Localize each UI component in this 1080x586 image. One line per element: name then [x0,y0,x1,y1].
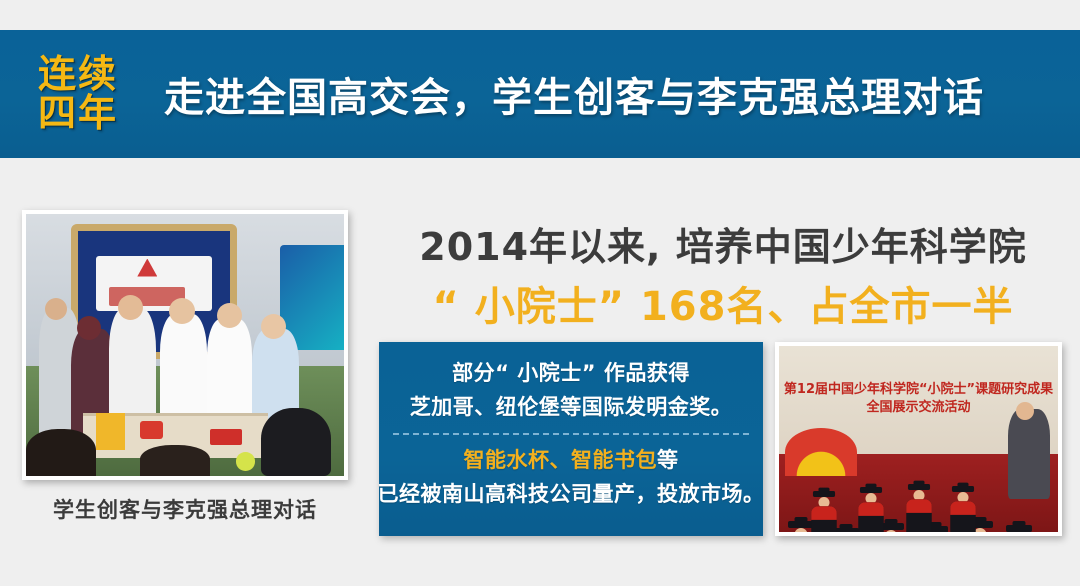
right-photo-image: 从小学习做人 · 从小学习立志 · 从小学习创造 第12届中国少年科学院“小院士… [779,346,1058,532]
photo-grad-cap [833,528,859,532]
info-box-line-3-highlight: 智能水杯、智能书包 [464,448,658,472]
info-box-line-1: 部分“ 小院士” 作品获得 [452,356,690,390]
info-box-line-3-suffix: 等 [657,448,679,472]
photo-exhibit-item [210,429,242,445]
info-box-line-2: 芝加哥、纽伦堡等国际发明金奖。 [410,390,733,424]
content-area: 学生创客与李克强总理对话 2014年以来, 培养中国少年科学院 “ 小院士” 1… [0,158,1080,586]
photo-grad-sash [906,499,932,513]
page-title: 走进全国高交会，学生创客与李克强总理对话 [150,65,1080,123]
photo-teacher-head [1016,402,1034,420]
photo-grad-sash [858,503,884,517]
photo-exhibit-item [140,421,162,439]
right-photo-frame: 从小学习做人 · 从小学习立志 · 从小学习创造 第12届中国少年科学院“小院士… [775,342,1062,536]
header-badge-line-2: 四年 [6,94,150,133]
left-photo-frame [22,210,348,480]
photo-foreground-head [26,429,96,476]
header-bar: 连续 四年 走进全国高交会，学生创客与李克强总理对话 [0,30,1080,158]
photo-grad-sash [950,501,976,515]
photo-grad-cap [907,484,929,490]
info-box: 部分“ 小院士” 作品获得 芝加哥、纽伦堡等国际发明金奖。 智能水杯、智能书包等… [379,342,763,536]
info-box-divider [393,433,749,435]
photo-foreground-head [140,445,210,476]
photo-grad-sash [811,506,837,520]
info-box-line-3: 智能水杯、智能书包等 [464,443,679,477]
headline-primary: 2014年以来, 培养中国少年科学院 [393,216,1053,271]
left-photo-caption: 学生创客与李克强总理对话 [22,494,348,524]
header-badge: 连续 四年 [0,55,150,133]
photo-grad-cap [952,486,974,492]
photo-grad-cap [1006,525,1032,532]
photo-foreground-camera [261,408,331,476]
photo-person-head [169,298,195,324]
photo-teacher [1008,409,1050,498]
photo-accent-dot [236,452,255,470]
photo-exhibit-item [96,413,125,450]
info-box-line-4: 已经被南山高科技公司量产，投放市场。 [378,477,765,511]
photo-banner-line-1: 第12届中国少年科学院“小院士”课题研究成果 [779,378,1058,397]
photo-person-head [77,316,101,340]
headline-secondary: “ 小院士” 168名、占全市一半 [393,274,1053,332]
header-badge-line-1: 连续 [6,55,150,94]
photo-person-head [217,303,242,328]
left-photo-image [26,214,344,476]
photo-stage-sun-graphic [785,428,858,476]
photo-person-head [261,314,286,339]
photo-person-head [45,298,67,320]
